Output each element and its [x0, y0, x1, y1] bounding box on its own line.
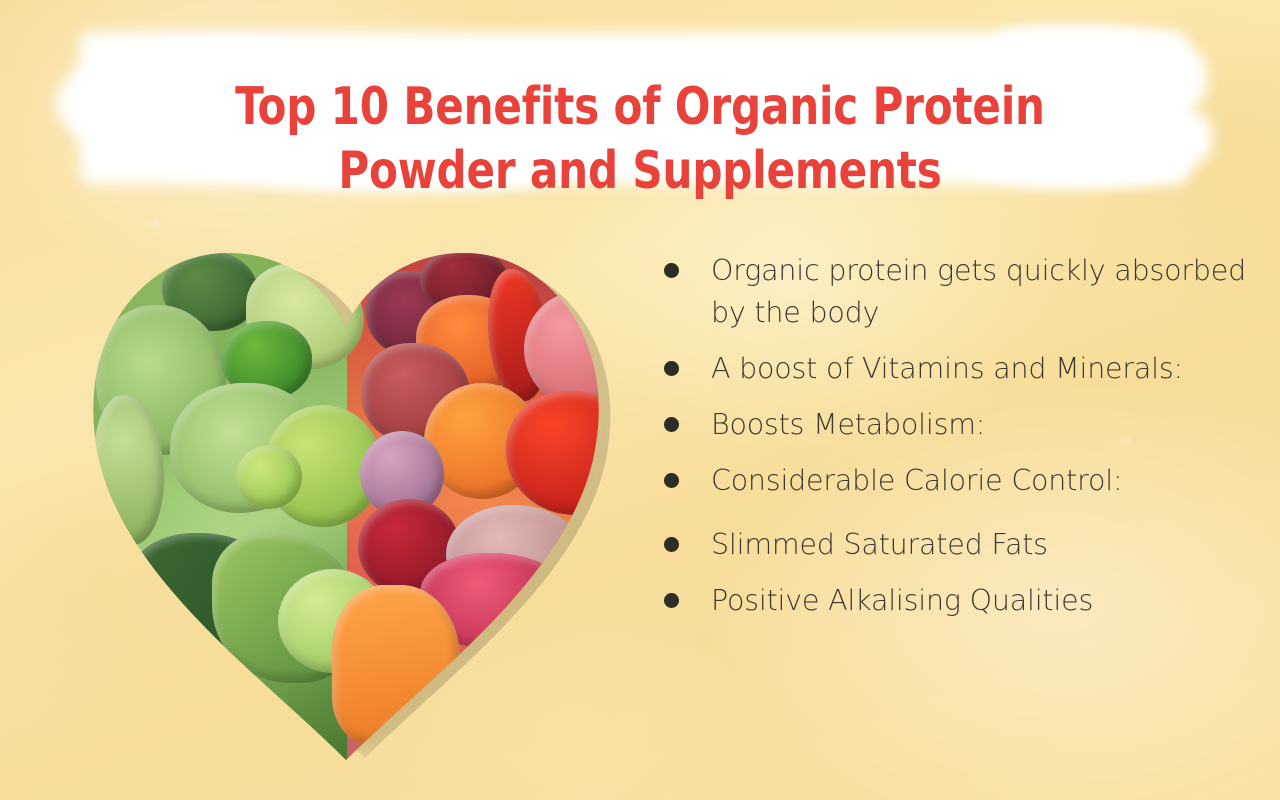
list-item: Positive Alkalising Qualities [664, 580, 1254, 622]
bullet-dot-icon [664, 417, 679, 432]
benefit-text: Considerable Calorie Control: [711, 460, 1254, 502]
list-item: Slimmed Saturated Fats [664, 524, 1254, 566]
benefits-list: Organic protein gets quickly absorbed by… [664, 250, 1254, 636]
list-item: Boosts Metabolism: [664, 404, 1254, 446]
list-item: Considerable Calorie Control: [664, 460, 1254, 502]
bullet-dot-icon [664, 361, 679, 376]
bullet-dot-icon [664, 263, 679, 278]
bullet-dot-icon [664, 593, 679, 608]
heart-image [60, 225, 660, 770]
benefit-text: A boost of Vitamins and Minerals: [711, 348, 1254, 390]
benefit-text: Positive Alkalising Qualities [711, 580, 1254, 622]
benefit-text: Boosts Metabolism: [711, 404, 1254, 446]
page-title: Top 10 Benefits of Organic Protein Powde… [64, 75, 1216, 203]
bullet-dot-icon [664, 473, 679, 488]
bullet-dot-icon [664, 537, 679, 552]
green-limes [236, 445, 302, 509]
benefit-text: Slimmed Saturated Fats [711, 524, 1254, 566]
benefit-text: Organic protein gets quickly absorbed by… [711, 250, 1254, 334]
list-item: Organic protein gets quickly absorbed by… [664, 250, 1254, 334]
list-item: A boost of Vitamins and Minerals: [664, 348, 1254, 390]
infographic-poster: Top 10 Benefits of Organic Protein Powde… [0, 0, 1280, 800]
